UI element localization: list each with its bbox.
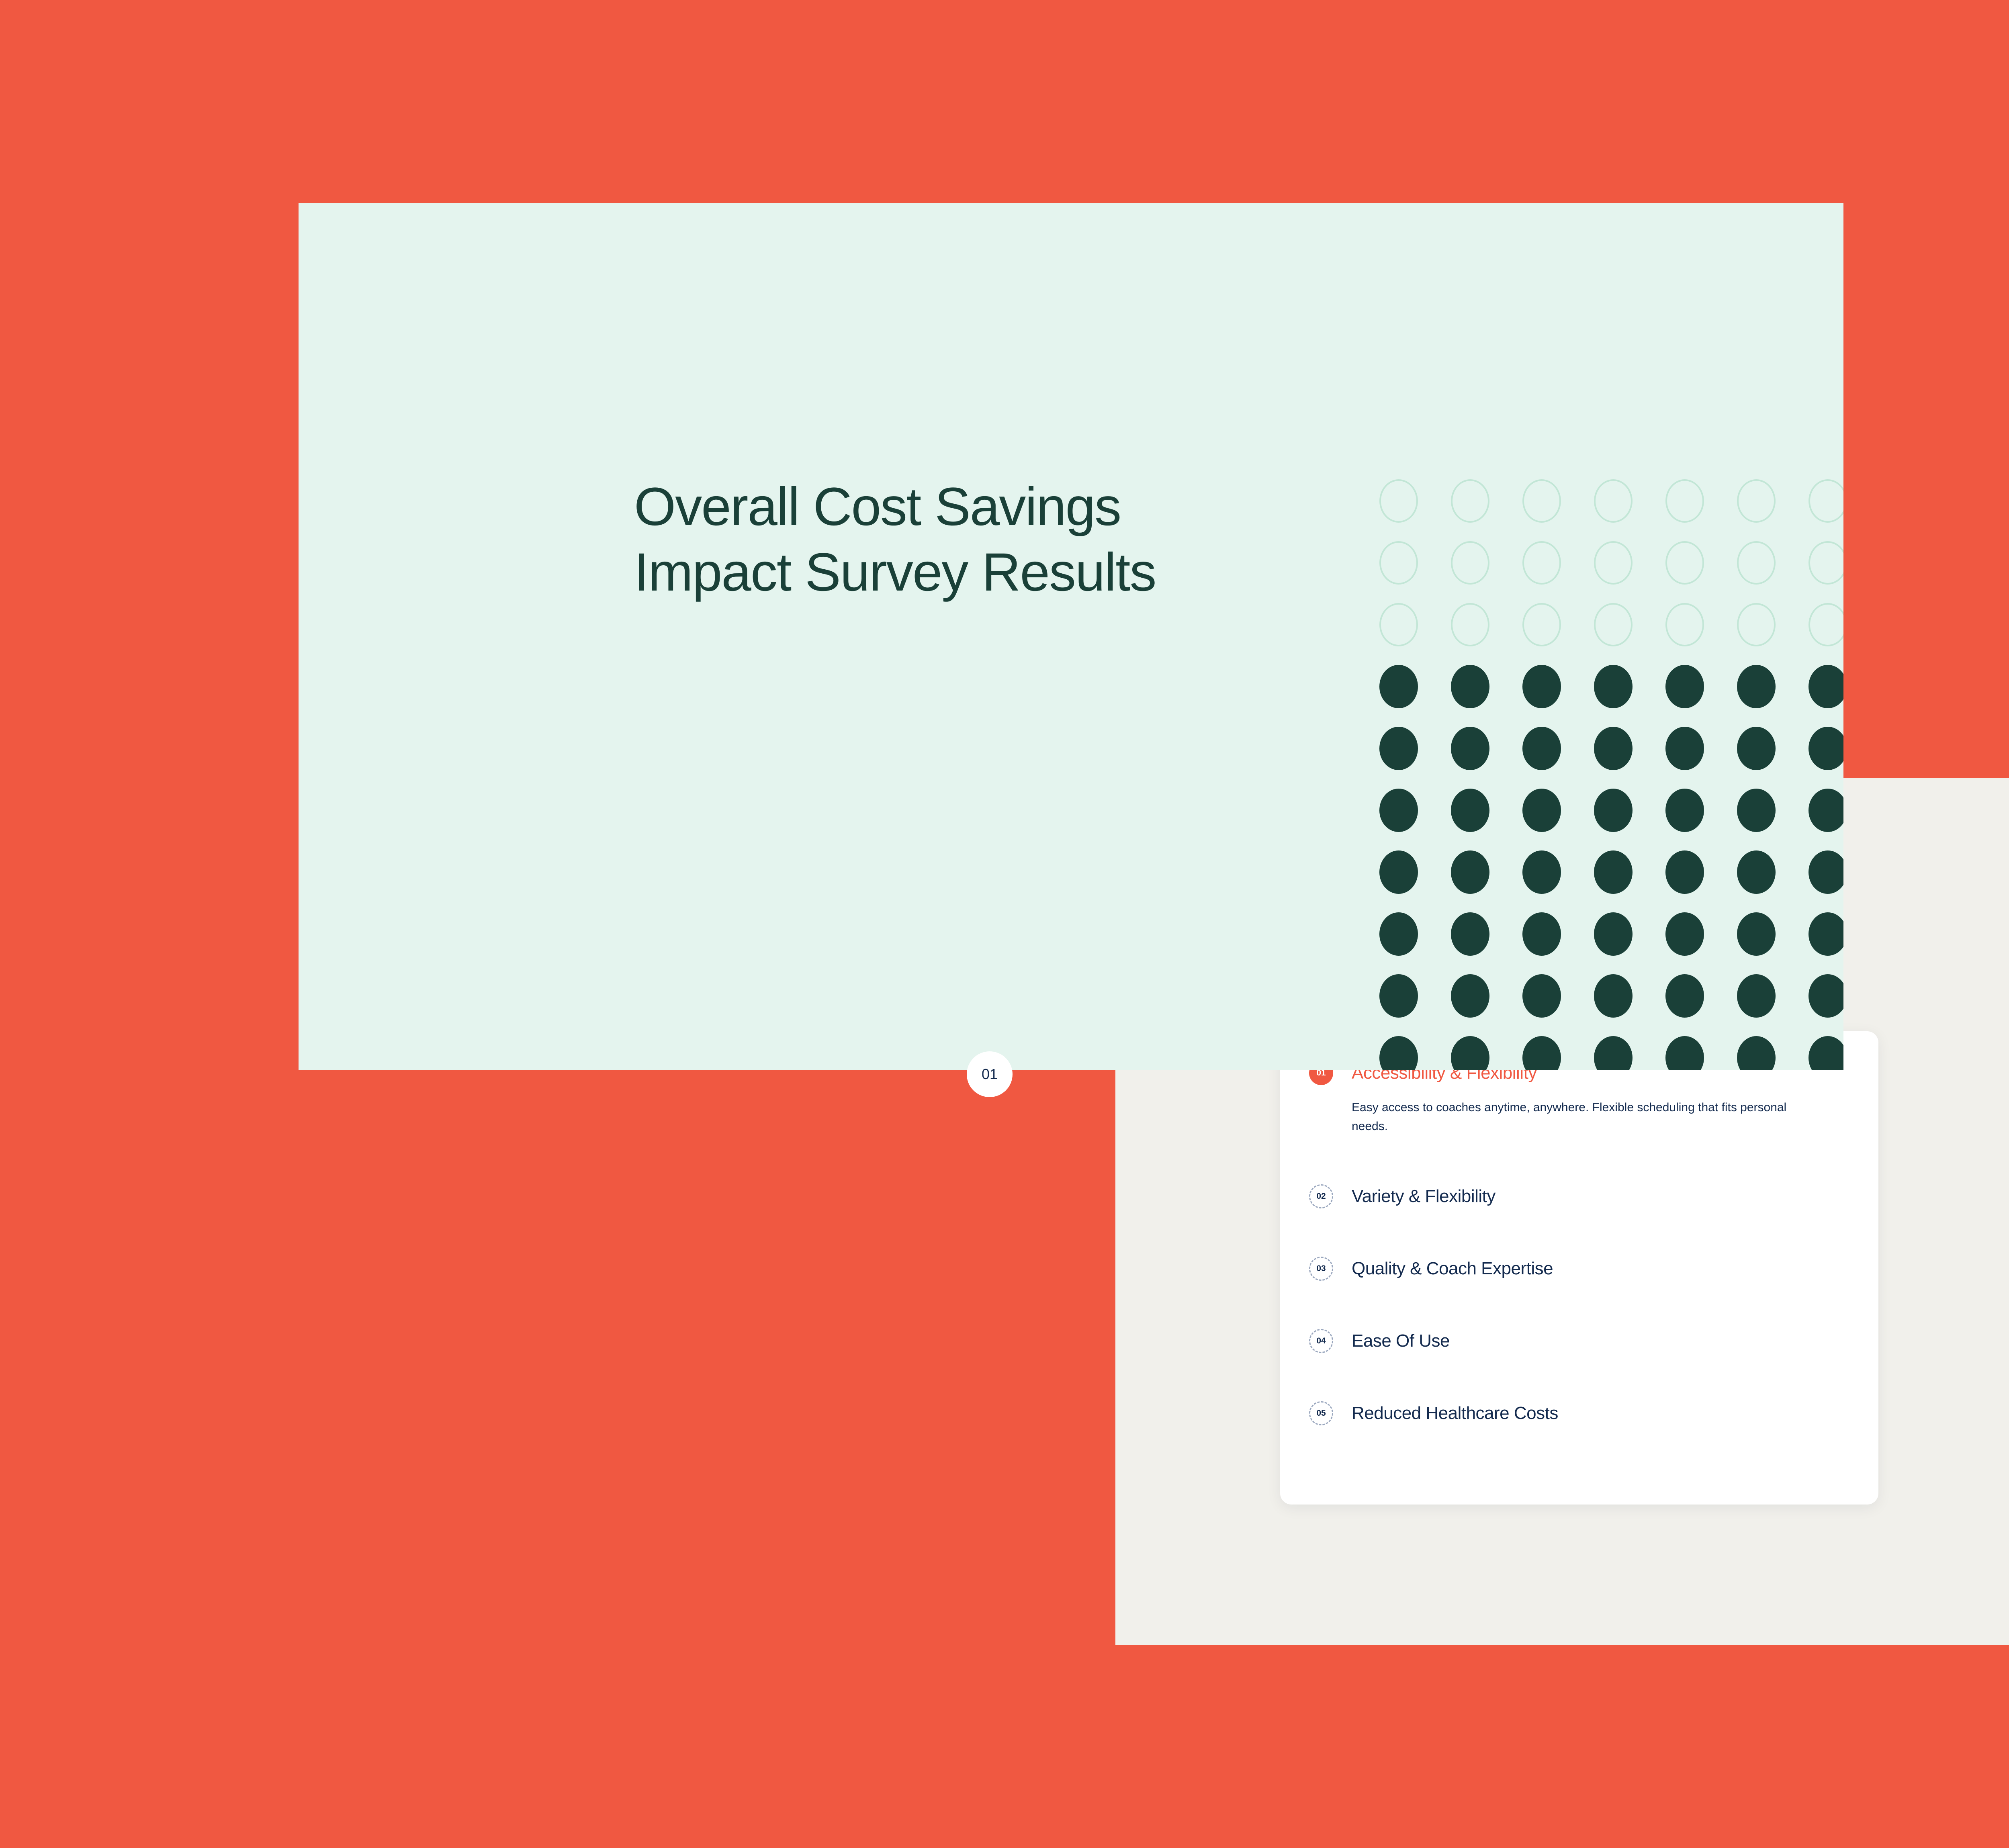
waffle-dot-filled <box>1451 665 1489 708</box>
waffle-dot-filled <box>1737 850 1776 894</box>
waffle-dot-filled <box>1522 912 1561 956</box>
waffle-dot-empty <box>1594 541 1633 585</box>
waffle-dot-empty <box>1665 479 1704 523</box>
waffle-dot-filled <box>1594 789 1633 832</box>
accordion-item-label: Reduced Healthcare Costs <box>1352 1403 1558 1423</box>
waffle-dot-filled <box>1594 1036 1633 1070</box>
legend-list: 01Cost Efficiency Gains02Healthcare Visi… <box>633 1067 1238 1070</box>
waffle-dot-filled <box>1809 727 1843 770</box>
waffle-dot-filled <box>1809 912 1843 956</box>
waffle-dot-filled <box>1379 789 1418 832</box>
waffle-dot-filled <box>1379 974 1418 1018</box>
accordion-item[interactable]: 02Variety & Flexibility <box>1280 1184 1878 1208</box>
waffle-dot-filled <box>1522 665 1561 708</box>
accordion-header[interactable]: 03Quality & Coach Expertise <box>1309 1257 1849 1281</box>
waffle-dot-empty <box>1451 603 1489 646</box>
waffle-dot-empty <box>1594 479 1633 523</box>
waffle-dot-filled <box>1379 1036 1418 1070</box>
accordion-header[interactable]: 05Reduced Healthcare Costs <box>1309 1401 1849 1425</box>
waffle-dot-filled <box>1594 850 1633 894</box>
waffle-dot-empty <box>1379 603 1418 646</box>
waffle-dot-filled <box>1737 974 1776 1018</box>
waffle-dot-filled <box>1522 727 1561 770</box>
waffle-dot-filled <box>1451 912 1489 956</box>
waffle-dot-filled <box>1809 974 1843 1018</box>
accordion-item-label: Quality & Coach Expertise <box>1352 1259 1553 1279</box>
waffle-dot-empty <box>1379 541 1418 585</box>
waffle-dot-filled <box>1809 1036 1843 1070</box>
waffle-dot-empty <box>1737 603 1776 646</box>
waffle-dot-filled <box>1665 1036 1704 1070</box>
waffle-dot-empty <box>1522 603 1561 646</box>
waffle-dot-filled <box>1665 665 1704 708</box>
accordion-header[interactable]: 02Variety & Flexibility <box>1309 1184 1849 1208</box>
accordion-item-label: Variety & Flexibility <box>1352 1186 1495 1206</box>
waffle-dot-empty <box>1451 541 1489 585</box>
waffle-dot-filled <box>1451 727 1489 770</box>
waffle-dot-filled <box>1522 850 1561 894</box>
accordion-header[interactable]: 04Ease Of Use <box>1309 1329 1849 1353</box>
accordion-item-label: Ease Of Use <box>1352 1331 1450 1351</box>
waffle-dot-filled <box>1522 1036 1561 1070</box>
waffle-dot-filled <box>1451 789 1489 832</box>
waffle-dot-filled <box>1665 850 1704 894</box>
waffle-dot-empty <box>1809 541 1843 585</box>
waffle-dot-filled <box>1522 974 1561 1018</box>
waffle-dot-filled <box>1594 727 1633 770</box>
accordion-panel: 01Accessibility & FlexibilityEasy access… <box>1280 1031 1878 1505</box>
waffle-dot-empty <box>1809 603 1843 646</box>
waffle-dot-filled <box>1737 1036 1776 1070</box>
accordion-item[interactable]: 04Ease Of Use <box>1280 1329 1878 1353</box>
waffle-dot-filled <box>1594 912 1633 956</box>
waffle-dot-empty <box>1665 541 1704 585</box>
accordion-number-badge: 04 <box>1309 1329 1333 1353</box>
waffle-dot-filled <box>1665 974 1704 1018</box>
waffle-dot-filled <box>1451 974 1489 1018</box>
waffle-dot-empty <box>1665 603 1704 646</box>
waffle-dot-empty <box>1451 479 1489 523</box>
waffle-dot-empty <box>1522 541 1561 585</box>
waffle-dot-filled <box>1737 665 1776 708</box>
accordion-number-badge: 02 <box>1309 1184 1333 1208</box>
waffle-dot-filled <box>1379 912 1418 956</box>
waffle-dot-filled <box>1809 665 1843 708</box>
waffle-dot-filled <box>1809 850 1843 894</box>
waffle-dot-empty <box>1737 541 1776 585</box>
waffle-dot-empty <box>1594 603 1633 646</box>
accordion-item[interactable]: 05Reduced Healthcare Costs <box>1280 1401 1878 1425</box>
waffle-dot-empty <box>1522 479 1561 523</box>
stack-badge: 01 <box>967 1051 1013 1097</box>
waffle-dot-filled <box>1665 789 1704 832</box>
waffle-dot-filled <box>1379 850 1418 894</box>
waffle-chart <box>1379 479 1843 1070</box>
accordion-item-body: Easy access to coaches anytime, anywhere… <box>1352 1098 1814 1136</box>
waffle-dot-filled <box>1594 974 1633 1018</box>
waffle-dot-empty <box>1379 479 1418 523</box>
waffle-dot-filled <box>1451 1036 1489 1070</box>
page-title: Overall Cost Savings Impact Survey Resul… <box>634 474 1156 605</box>
waffle-dot-filled <box>1665 912 1704 956</box>
waffle-dot-filled <box>1809 789 1843 832</box>
waffle-dot-empty <box>1809 479 1843 523</box>
cost-savings-card: Overall Cost Savings Impact Survey Resul… <box>299 203 1843 1070</box>
legend-item[interactable]: 01Cost Efficiency Gains <box>633 1067 1238 1070</box>
accordion-number-badge: 03 <box>1309 1257 1333 1281</box>
waffle-dot-filled <box>1737 789 1776 832</box>
waffle-dot-filled <box>1594 665 1633 708</box>
waffle-dot-filled <box>1665 727 1704 770</box>
waffle-dot-filled <box>1379 665 1418 708</box>
waffle-dot-filled <box>1522 789 1561 832</box>
accordion-item[interactable]: 01Accessibility & FlexibilityEasy access… <box>1280 1061 1878 1136</box>
waffle-dot-filled <box>1451 850 1489 894</box>
waffle-dot-filled <box>1379 727 1418 770</box>
waffle-dot-empty <box>1737 479 1776 523</box>
accordion-number-badge: 05 <box>1309 1401 1333 1425</box>
waffle-dot-filled <box>1737 727 1776 770</box>
waffle-dot-filled <box>1737 912 1776 956</box>
accordion-item[interactable]: 03Quality & Coach Expertise <box>1280 1257 1878 1281</box>
